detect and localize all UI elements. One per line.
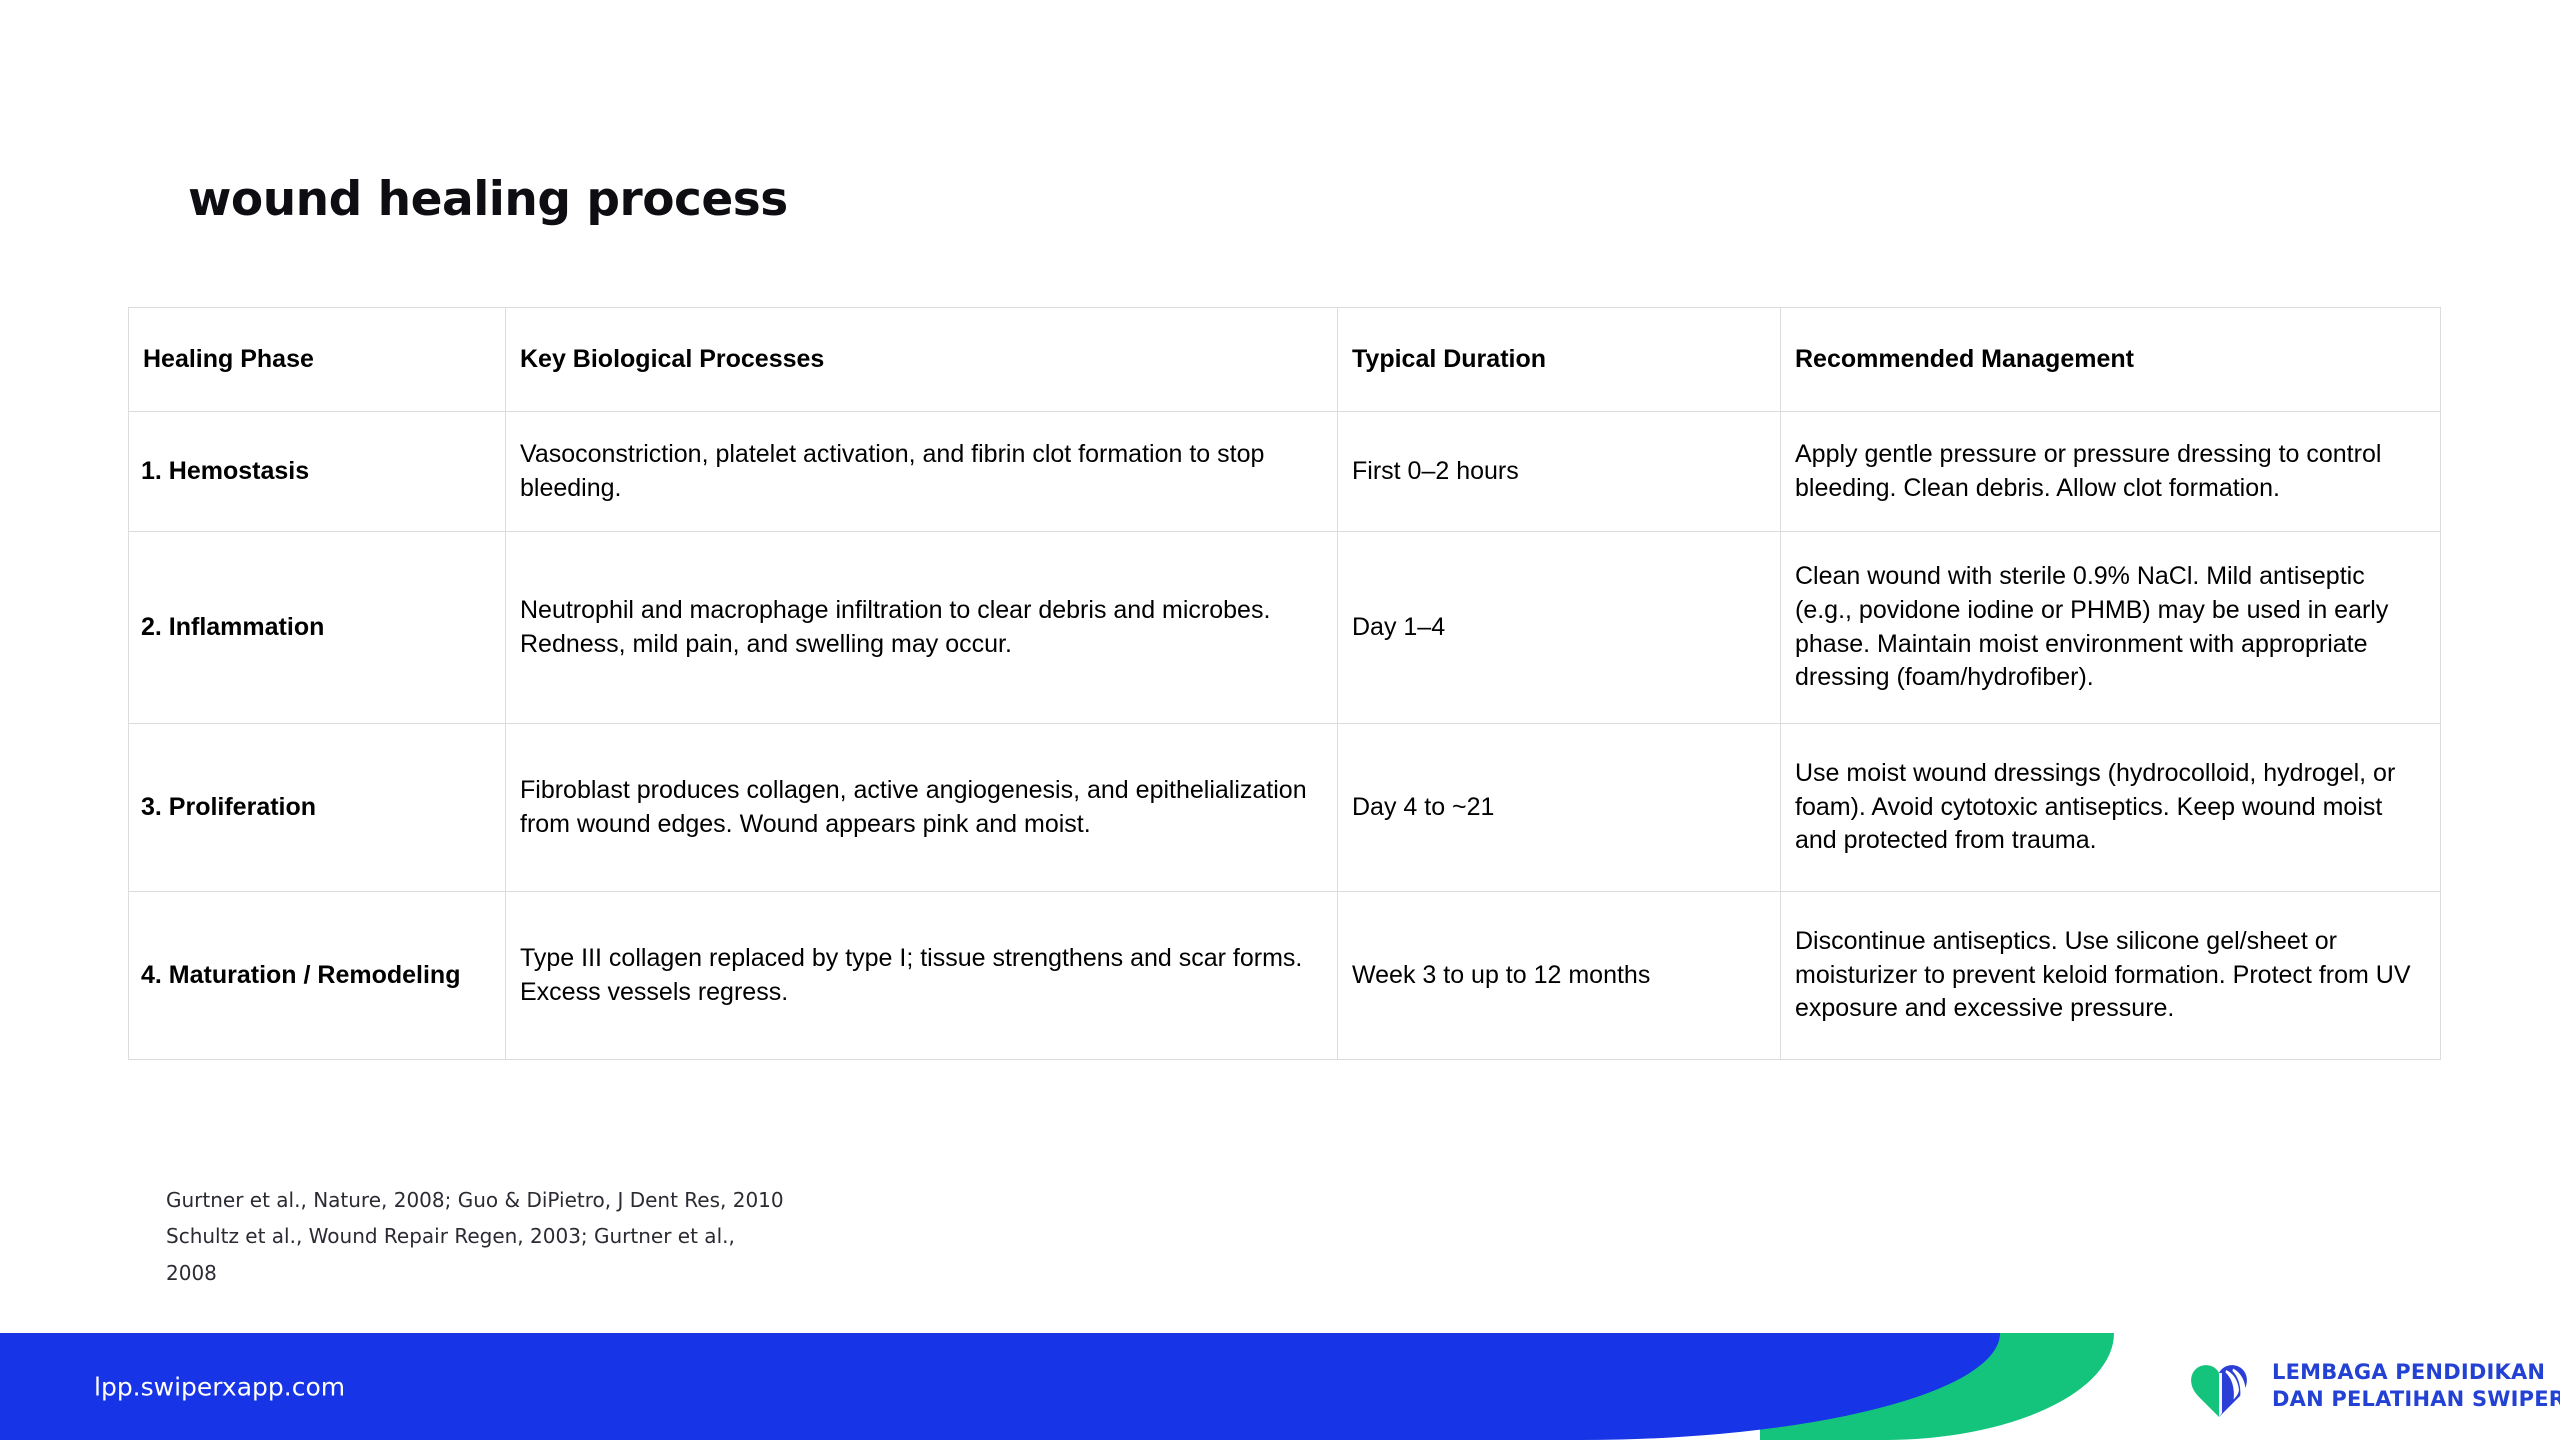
table-row: 4. Maturation / Remodeling Type III coll… (129, 892, 2441, 1060)
cell-processes: Fibroblast produces collagen, active ang… (506, 724, 1338, 892)
cell-phase: 1. Hemostasis (129, 412, 506, 532)
phase-table-container: Healing Phase Key Biological Processes T… (128, 307, 2440, 1060)
citation-line-1: Gurtner et al., Nature, 2008; Guo & DiPi… (166, 1182, 926, 1218)
table-row: 2. Inflammation Neutrophil and macrophag… (129, 532, 2441, 724)
cell-management: Clean wound with sterile 0.9% NaCl. Mild… (1781, 532, 2441, 724)
logo-wordmark: LEMBAGA PENDIDIKAN DAN PELATIHAN SWIPERX (2272, 1359, 2560, 1413)
cell-phase: 3. Proliferation (129, 724, 506, 892)
table-row: 1. Hemostasis Vasoconstriction, platelet… (129, 412, 2441, 532)
logo-wordmark-line-1: LEMBAGA PENDIDIKAN (2272, 1360, 2545, 1384)
cell-management: Use moist wound dressings (hydrocolloid,… (1781, 724, 2441, 892)
table-row: 3. Proliferation Fibroblast produces col… (129, 724, 2441, 892)
cell-processes: Type III collagen replaced by type I; ti… (506, 892, 1338, 1060)
column-header-key-processes: Key Biological Processes (506, 308, 1338, 412)
footer-bar: lpp.swiperxapp.com (0, 1333, 2560, 1440)
cell-processes: Vasoconstriction, platelet activation, a… (506, 412, 1338, 532)
wound-healing-phase-table: Healing Phase Key Biological Processes T… (128, 307, 2441, 1060)
cell-processes: Neutrophil and macrophage infiltration t… (506, 532, 1338, 724)
citation-line-3: 2008 (166, 1255, 926, 1291)
citation-block: Gurtner et al., Nature, 2008; Guo & DiPi… (166, 1182, 926, 1291)
citation-line-2: Schultz et al., Wound Repair Regen, 2003… (166, 1218, 926, 1254)
cell-duration: First 0–2 hours (1338, 412, 1781, 532)
organization-logo: LEMBAGA PENDIDIKAN DAN PELATIHAN SWIPERX (2186, 1353, 2560, 1419)
column-header-healing-phase: Healing Phase (129, 308, 506, 412)
cell-duration: Day 4 to ~21 (1338, 724, 1781, 892)
page-title: wound healing process (188, 172, 788, 227)
footer-website-url[interactable]: lpp.swiperxapp.com (94, 1372, 345, 1401)
cell-management: Apply gentle pressure or pressure dressi… (1781, 412, 2441, 532)
cell-duration: Week 3 to up to 12 months (1338, 892, 1781, 1060)
column-header-typical-duration: Typical Duration (1338, 308, 1781, 412)
cell-management: Discontinue antiseptics. Use silicone ge… (1781, 892, 2441, 1060)
logo-wordmark-line-2: DAN PELATIHAN SWIPERX (2272, 1387, 2560, 1411)
table-header-row: Healing Phase Key Biological Processes T… (129, 308, 2441, 412)
heart-book-icon (2186, 1353, 2252, 1419)
cell-duration: Day 1–4 (1338, 532, 1781, 724)
cell-phase: 2. Inflammation (129, 532, 506, 724)
cell-phase: 4. Maturation / Remodeling (129, 892, 506, 1060)
column-header-recommended-management: Recommended Management (1781, 308, 2441, 412)
